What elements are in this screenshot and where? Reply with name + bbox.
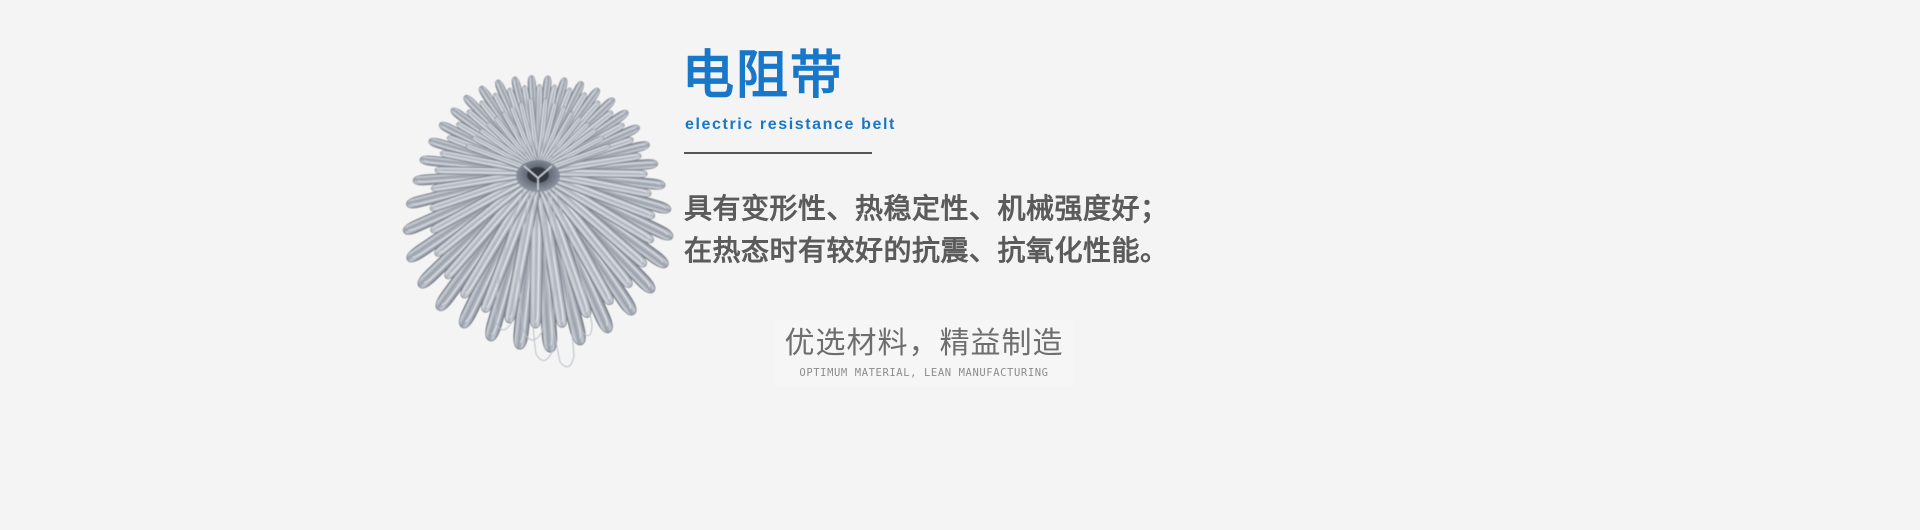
slogan-english: OPTIMUM MATERIAL, LEAN MANUFACTURING (780, 366, 1068, 380)
title-divider (684, 152, 872, 154)
description-line-2: 在热态时有较好的抗震、抗氧化性能。 (684, 230, 1444, 272)
slogan-chinese: 优选材料，精益制造 (780, 324, 1068, 364)
page-subtitle: electric resistance belt (685, 116, 1202, 134)
product-banner: 电阻带 electric resistance belt 具有变形性、热稳定性、… (0, 0, 1920, 530)
description-line-1: 具有变形性、热稳定性、机械强度好； (684, 188, 1444, 230)
page-title: 电阻带 (682, 48, 1202, 104)
headline-block: 电阻带 electric resistance belt (682, 48, 1202, 154)
slogan-block: 优选材料，精益制造 OPTIMUM MATERIAL, LEAN MANUFAC… (774, 320, 1074, 386)
resistance-belt-photo (338, 54, 738, 434)
product-image-figure (338, 54, 738, 434)
text-column: 电阻带 electric resistance belt 具有变形性、热稳定性、… (682, 0, 1822, 530)
description-text: 具有变形性、热稳定性、机械强度好； 在热态时有较好的抗震、抗氧化性能。 (684, 188, 1444, 272)
